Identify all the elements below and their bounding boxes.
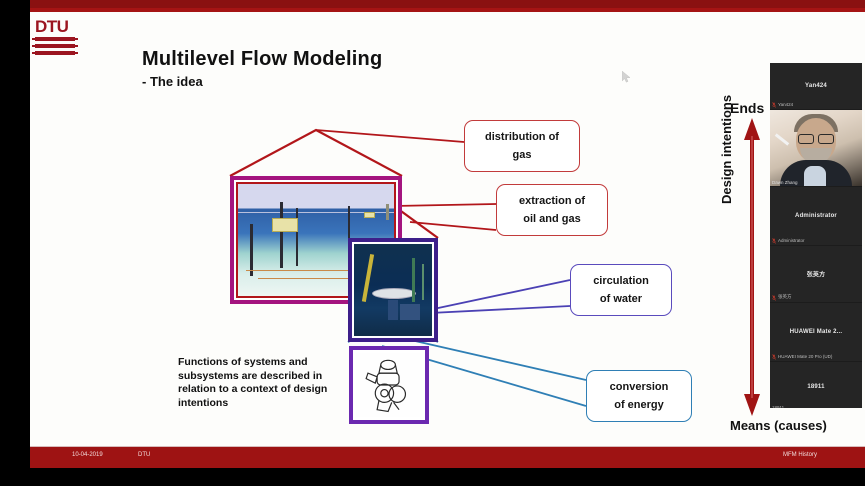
mic-muted-icon	[772, 238, 776, 244]
callout-line-2: of energy	[614, 396, 664, 414]
pump-assembly-sketch	[356, 353, 422, 417]
avatar-shirt	[804, 166, 826, 186]
rig-platform	[272, 218, 298, 232]
mic-muted-icon	[772, 295, 776, 301]
callout-distribution-of-gas[interactable]: distribution of gas	[464, 120, 580, 172]
video-conference-panel[interactable]: Yan424 Yan424 Dawn Zhang Adminis	[770, 63, 862, 408]
footer-right-label: MFM History	[783, 452, 817, 458]
slide-top-accent	[30, 8, 865, 12]
participant-badge: 张英方	[778, 294, 792, 300]
participant-tile[interactable]: 张英方 张英方	[770, 246, 862, 303]
rig-mast	[296, 208, 298, 266]
axis-label-design-intentions: Design intentions	[719, 95, 734, 204]
callout-line-2: of water	[600, 290, 642, 308]
image-equipment-drawing	[349, 346, 429, 424]
dtu-logo-bars	[35, 37, 87, 55]
derrick	[422, 264, 424, 300]
dtu-logo: DTU	[35, 18, 87, 66]
participant-name: 18911	[770, 384, 862, 390]
helideck	[372, 288, 416, 299]
callout-line-1: extraction of	[519, 192, 585, 210]
rig-mast	[280, 202, 283, 268]
screen: DTU Multilevel Flow Modeling - The idea	[0, 0, 865, 486]
callout-line-2: gas	[513, 146, 532, 164]
participant-tile-video[interactable]: Dawn Zhang	[770, 110, 862, 187]
rig-platform	[364, 212, 375, 218]
participant-badge: Administrator	[778, 238, 805, 243]
participant-name: HUAWEI Mate 2...	[770, 329, 862, 335]
hull	[388, 300, 398, 320]
participant-tile[interactable]: Yan424 Yan424	[770, 63, 862, 110]
participant-badge: Dawn Zhang	[772, 180, 798, 185]
left-letterbox	[0, 8, 30, 468]
design-intentions-arrow-icon	[742, 118, 762, 416]
mic-muted-icon	[772, 354, 776, 360]
participant-badge: 18911	[772, 405, 784, 408]
hull	[400, 304, 420, 320]
mouse-cursor-icon	[622, 71, 632, 83]
page-title: Multilevel Flow Modeling	[142, 48, 382, 71]
participant-name: Administrator	[770, 213, 862, 219]
footer-date: 10-04-2019	[72, 452, 103, 458]
axis-label-means: Means (causes)	[730, 418, 827, 433]
callout-line-2: oil and gas	[523, 210, 580, 228]
participant-name: 张英方	[770, 270, 862, 279]
platform-closeup-art	[354, 244, 432, 336]
derrick	[412, 258, 415, 302]
window-top-strip	[0, 0, 865, 8]
light-streak	[775, 133, 789, 145]
participant-badge: HUAWEI Mate 20 Pro (UD)	[778, 354, 832, 359]
page-subtitle: - The idea	[142, 74, 203, 89]
footer-hairline	[30, 446, 865, 447]
participant-tile[interactable]: HUAWEI Mate 2... HUAWEI Mate 20 Pro (UD)	[770, 303, 862, 362]
callout-extraction-of-oil-and-gas[interactable]: extraction of oil and gas	[496, 184, 608, 236]
equipment-drawing-art	[356, 353, 422, 417]
bottom-letterbox	[0, 468, 865, 486]
dtu-bar	[35, 37, 75, 41]
top-strip-notch	[0, 0, 30, 8]
participant-name: Yan424	[770, 83, 862, 89]
participant-tile[interactable]: Administrator Administrator	[770, 187, 862, 246]
rig-mast	[386, 204, 389, 220]
footer-org: DTU	[138, 452, 150, 458]
glasses-icon	[798, 134, 834, 142]
image-platform-closeup	[348, 238, 438, 342]
dtu-bar	[35, 44, 75, 48]
body-text: Functions of systems and subsystems are …	[178, 356, 348, 410]
callout-line-1: conversion	[610, 378, 669, 396]
callout-line-1: distribution of	[485, 128, 559, 146]
callout-line-1: circulation	[593, 272, 649, 290]
participant-tile[interactable]: 18911 18911	[770, 362, 862, 408]
dtu-logo-text: DTU	[35, 18, 87, 35]
slide-canvas: DTU Multilevel Flow Modeling - The idea	[30, 8, 865, 446]
axis-label-ends: Ends	[730, 100, 764, 116]
subsea-riser	[250, 224, 253, 276]
callout-conversion-of-energy[interactable]: conversion of energy	[586, 370, 692, 422]
mic-muted-icon	[772, 102, 776, 108]
dtu-bar	[35, 51, 75, 55]
slide-footer: 10-04-2019 DTU MFM History	[30, 446, 865, 468]
callout-circulation-of-water[interactable]: circulation of water	[570, 264, 672, 316]
participant-badge: Yan424	[778, 102, 793, 107]
